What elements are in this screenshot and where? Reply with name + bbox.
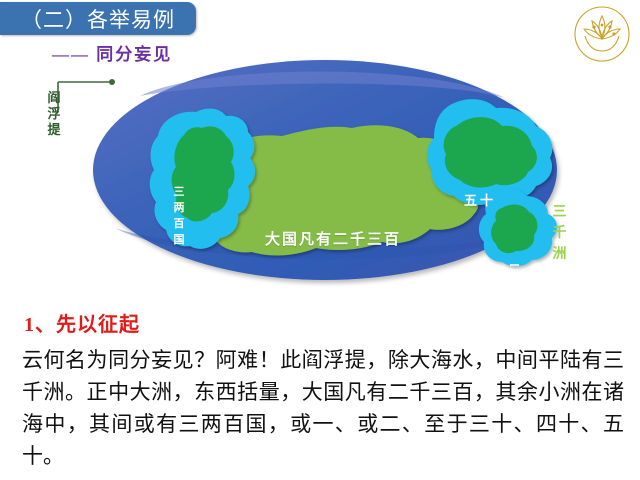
upper-right-island xyxy=(427,99,552,205)
slide-title-bar: （二）各举易例 xyxy=(0,2,196,35)
callout-label-jambudvipa: 阎浮提 xyxy=(44,90,64,138)
section-heading: 1、先以征起 xyxy=(24,308,140,337)
jambudvipa-continent-map: 大国凡有二千三百 三两百国 五十 二十 三千洲 xyxy=(0,52,640,302)
callout-leader-line xyxy=(0,52,180,172)
page-title: （二）各举易例 xyxy=(21,4,175,34)
body-paragraph: 云何名为同分妄见？阿难！此阎浮提，除大海水，中间平陆有三千洲。正中大洲，东西括量… xyxy=(22,344,624,472)
